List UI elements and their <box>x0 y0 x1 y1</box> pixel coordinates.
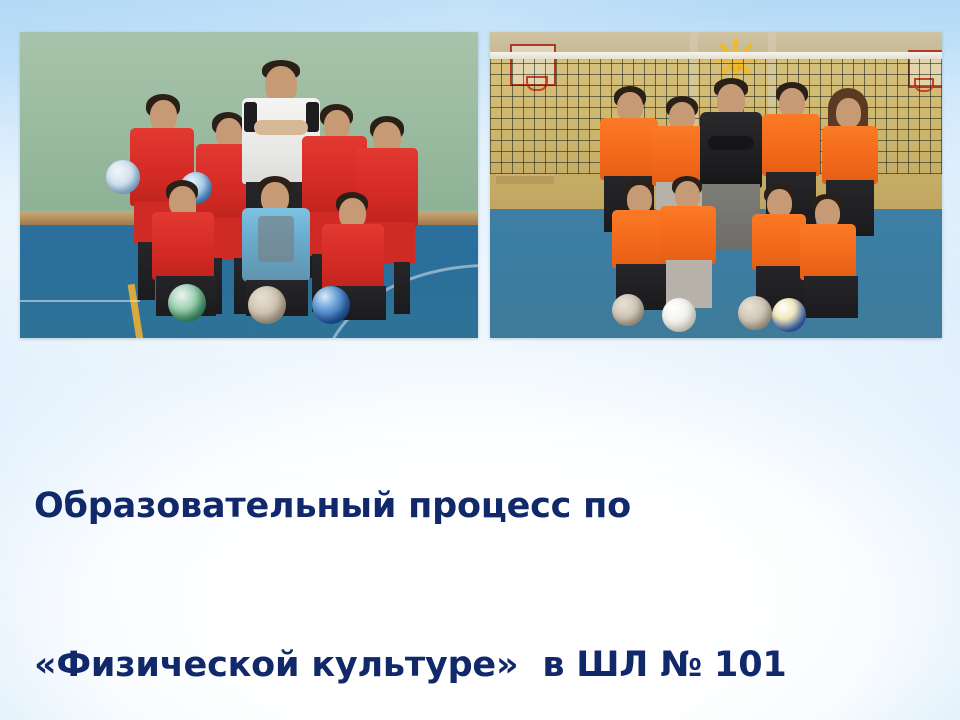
slide-caption: Образовательный процесс по «Физической к… <box>34 374 924 720</box>
football-gym-scene <box>20 32 478 338</box>
soccer-ball-worn <box>248 286 286 324</box>
volleyball-ball-worn-1 <box>612 294 644 326</box>
caption-line-2: «Физической культуре» в ШЛ № 101 <box>34 639 924 692</box>
volleyball-gym-scene <box>490 32 942 338</box>
caption-line-1: Образовательный процесс по <box>34 480 924 533</box>
soccer-ball-1 <box>106 160 140 194</box>
gym-bench <box>496 174 554 184</box>
football-team-photo <box>20 32 478 338</box>
volleyball-ball-blue-yellow <box>772 298 806 332</box>
volleyball-team-photo <box>490 32 942 338</box>
volleyball-ball-worn-2 <box>738 296 772 330</box>
soccer-ball-blue-star <box>312 286 350 324</box>
presentation-slide: Образовательный процесс по «Физической к… <box>0 0 960 720</box>
volleyball-net-tape <box>490 52 942 59</box>
volleyball-ball-striped-1 <box>662 298 696 332</box>
soccer-ball-green <box>168 284 206 322</box>
court-white-line <box>20 300 140 302</box>
